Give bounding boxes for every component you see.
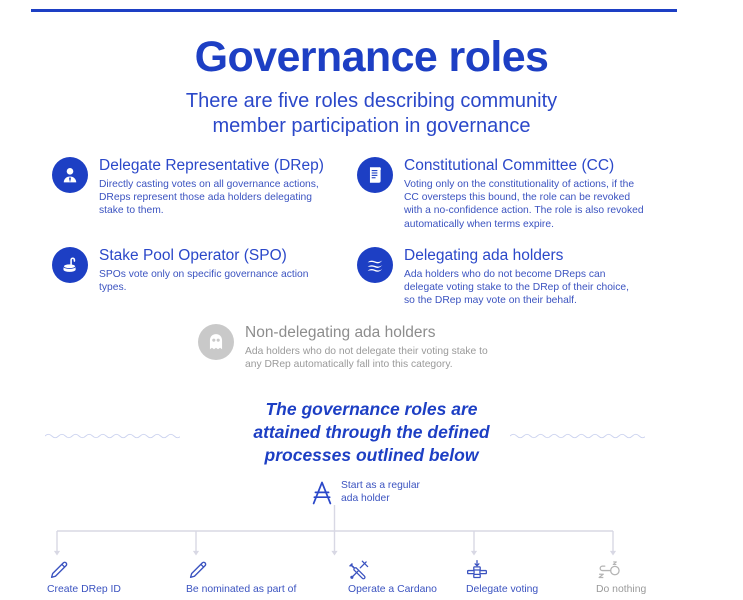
flow-connector-tree [0, 505, 743, 565]
role-body: Delegate Representative (DRep) Directly … [99, 155, 329, 218]
flow-leaf-label: Create DRep ID [47, 584, 197, 597]
pencil-icon [186, 559, 336, 581]
constitution-scroll-icon [357, 157, 393, 193]
subtitle-line-2: member participation in governance [0, 114, 743, 139]
flow-leaf-label: Do nothing [596, 584, 743, 597]
top-divider-rule [31, 9, 677, 12]
role-card-constitutional-committee: Constitutional Committee (CC) Voting onl… [357, 155, 657, 231]
role-title: Stake Pool Operator (SPO) [99, 246, 319, 265]
delegation-layers-icon [357, 247, 393, 283]
role-title: Delegating ada holders [404, 246, 629, 265]
role-card-drep: Delegate Representative (DRep) Directly … [52, 155, 352, 218]
page-subtitle: There are five roles describing communit… [0, 89, 743, 139]
role-body: Delegating ada holders Ada holders who d… [404, 245, 629, 308]
flow-leaf-be-nominated: Be nominated as part of [186, 559, 336, 597]
role-card-non-delegating-ada-holders: Non-delegating ada holders Ada holders w… [198, 322, 528, 371]
role-description: Ada holders who do not delegate their vo… [245, 345, 505, 371]
header-block: Governance roles There are five roles de… [0, 32, 743, 139]
user-person-icon [52, 157, 88, 193]
ghost-icon [198, 324, 234, 360]
roles-grid: Delegate Representative (DRep) Directly … [0, 150, 743, 390]
infographic-page: Governance roles There are five roles de… [0, 0, 743, 600]
flow-start-label-line-1: Start as a regular [341, 479, 420, 492]
page-title: Governance roles [0, 32, 743, 82]
squiggle-decoration-left [45, 427, 180, 445]
sleep-zzz-icon [596, 559, 743, 581]
flow-start-label-line-2: ada holder [341, 492, 420, 505]
subtitle-line-1: There are five roles describing communit… [0, 89, 743, 114]
role-description: Voting only on the constitutionality of … [404, 178, 649, 231]
flow-leaf-label: Be nominated as part of [186, 584, 336, 597]
flow-leaf-do-nothing: Do nothing [596, 559, 743, 597]
role-body: Stake Pool Operator (SPO) SPOs vote only… [99, 245, 319, 294]
delegate-icon [466, 559, 616, 581]
stake-pool-coins-icon [52, 247, 88, 283]
role-description: Directly casting votes on all governance… [99, 178, 329, 218]
role-body: Constitutional Committee (CC) Voting onl… [404, 155, 649, 231]
flow-leaf-delegate-voting: Delegate voting [466, 559, 616, 597]
role-description: Ada holders who do not become DReps can … [404, 268, 629, 308]
flow-leaf-create-drep-id: Create DRep ID [47, 559, 197, 597]
flow-start-label: Start as a regular ada holder [341, 479, 420, 505]
role-title: Non-delegating ada holders [245, 323, 505, 342]
flow-leaf-label: Delegate voting [466, 584, 616, 597]
pencil-icon [47, 559, 197, 581]
squiggle-decoration-right [510, 427, 645, 445]
tagline-line-1: The governance roles are [0, 398, 743, 421]
role-card-stake-pool-operator: Stake Pool Operator (SPO) SPOs vote only… [52, 245, 352, 294]
role-title: Delegate Representative (DRep) [99, 156, 329, 175]
role-body: Non-delegating ada holders Ada holders w… [245, 322, 505, 371]
role-card-delegating-ada-holders: Delegating ada holders Ada holders who d… [357, 245, 657, 308]
role-title: Constitutional Committee (CC) [404, 156, 649, 175]
role-description: SPOs vote only on specific governance ac… [99, 268, 319, 294]
tagline-line-3: processes outlined below [0, 444, 743, 467]
